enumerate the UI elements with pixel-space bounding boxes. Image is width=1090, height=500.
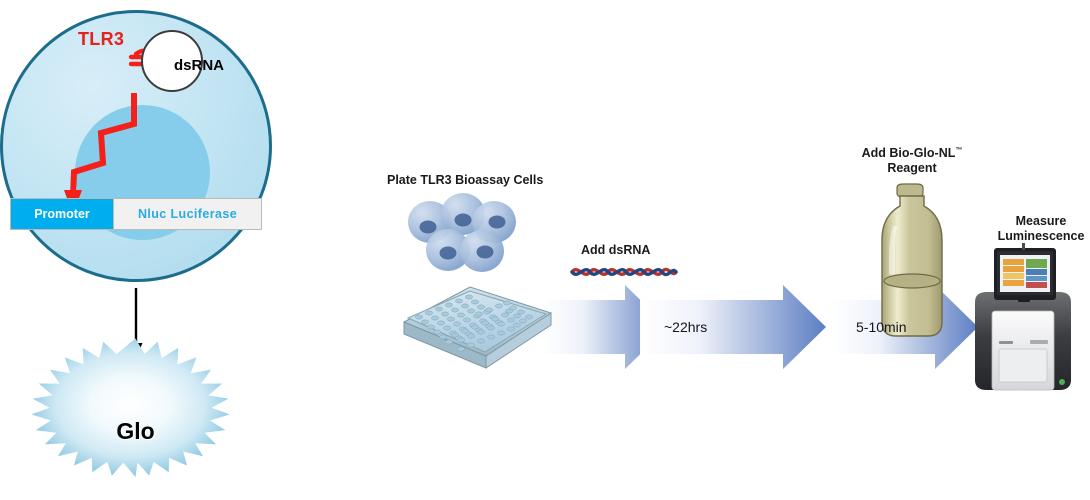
arrow-label-reagent-incubation: 5-10min bbox=[856, 319, 907, 335]
arrow-label-incubation: ~22hrs bbox=[664, 319, 707, 335]
measure-title-line1: Measure bbox=[1016, 214, 1067, 228]
trademark-symbol: ™ bbox=[955, 147, 962, 154]
cell-cluster-icon bbox=[408, 193, 516, 272]
measure-title-line2: Luminescence bbox=[998, 229, 1085, 243]
reagent-title-line2: Reagent bbox=[887, 161, 936, 175]
reagent-bottle-icon bbox=[882, 184, 942, 336]
dsrna-double-helix-icon bbox=[572, 269, 676, 274]
step-title-add-reagent: Add Bio-Glo-NL™ Reagent bbox=[851, 146, 973, 177]
step-title-plate-cells: Plate TLR3 Bioassay Cells bbox=[387, 173, 543, 188]
step-title-add-dsrna: Add dsRNA bbox=[581, 243, 650, 258]
reagent-title-line1: Add Bio-Glo-NL bbox=[862, 146, 956, 160]
luminometer-instrument-icon bbox=[975, 243, 1071, 390]
96-well-microplate-icon bbox=[404, 287, 551, 368]
workflow-arrows-layer bbox=[0, 0, 1090, 500]
step-title-measure-luminescence: Measure Luminescence bbox=[995, 214, 1087, 245]
figure-canvas: dsRNA TLR3 Promoter Nluc Luciferase bbox=[0, 0, 1090, 500]
